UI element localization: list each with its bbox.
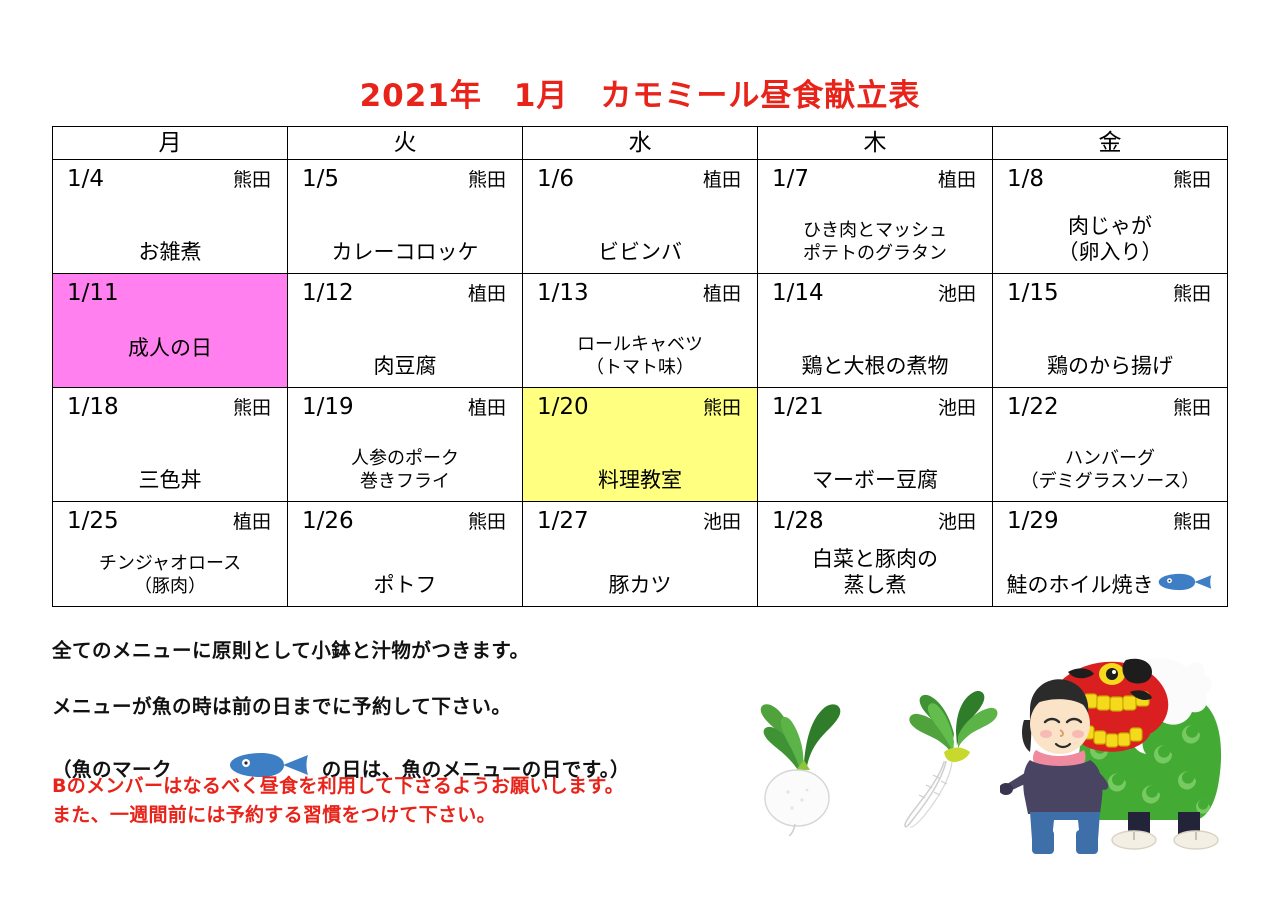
day-staff-name: 植田 [703,279,741,309]
note-red-line-2: また、一週間前には予約する習慣をつけて下さい。 [52,801,752,830]
daikon-radish-illustration [884,686,1004,836]
day-menu-text: 人参のポーク 巻きフライ [288,447,522,493]
day-date: 1/6 [537,164,574,194]
calendar-day-cell[interactable]: 1/15熊田鶏のから揚げ [993,274,1228,388]
calendar-day-cell[interactable]: 1/27池田豚カツ [523,502,758,607]
day-staff-name: 熊田 [1173,393,1211,423]
day-menu-text: 三色丼 [53,467,287,493]
menu-with-fish: 鮭のホイル焼き [1007,572,1214,598]
calendar-day-cell[interactable]: 1/20熊田料理教室 [523,388,758,502]
day-menu-text: ポトフ [288,572,522,598]
day-menu-text: ビビンバ [523,239,757,265]
calendar-day-cell[interactable]: 1/29熊田鮭のホイル焼き [993,502,1228,607]
day-menu-text: チンジャオロース （豚肉） [53,552,287,598]
weekday-header-mon: 月 [53,127,288,160]
day-staff-name: 熊田 [233,165,271,195]
day-staff-name: 植田 [233,507,271,537]
calendar-day-cell[interactable]: 1/28池田白菜と豚肉の 蒸し煮 [758,502,993,607]
shishimai-lion-dance-illustration [1000,634,1250,854]
day-cell-header: 1/14池田 [758,274,992,309]
day-cell-header: 1/12植田 [288,274,522,309]
calendar-week-row: 1/4熊田お雑煮1/5熊田カレーコロッケ1/6植田ビビンバ1/7植田ひき肉とマッ… [53,160,1228,274]
day-staff-name: 熊田 [233,393,271,423]
day-date: 1/21 [772,392,824,422]
calendar-day-cell[interactable]: 1/7植田ひき肉とマッシュ ポテトのグラタン [758,160,993,274]
page-title: 2021年 1月 カモミール昼食献立表 [0,70,1280,115]
day-date: 1/11 [67,278,119,308]
calendar-day-cell[interactable]: 1/11成人の日 [53,274,288,388]
day-date: 1/25 [67,506,119,536]
day-date: 1/27 [537,506,589,536]
weekday-header-thu: 木 [758,127,993,160]
note-line-1: 全てのメニューに原則として小鉢と汁物がつきます。 [52,636,752,666]
calendar-day-cell[interactable]: 1/14池田鶏と大根の煮物 [758,274,993,388]
day-menu-text: 肉豆腐 [288,353,522,379]
day-cell-header: 1/5熊田 [288,160,522,195]
day-cell-header: 1/15熊田 [993,274,1227,309]
day-date: 1/20 [537,392,589,422]
calendar-day-cell[interactable]: 1/6植田ビビンバ [523,160,758,274]
day-date: 1/15 [1007,278,1059,308]
day-menu-text: 鶏のから揚げ [993,353,1227,379]
day-staff-name: 植田 [938,165,976,195]
weekday-header-tue: 火 [288,127,523,160]
day-menu-text: 鮭のホイル焼き [993,572,1227,598]
note-red-line-1: Bのメンバーはなるべく昼食を利用して下さるようお願いします。 [52,772,752,801]
day-menu-text: マーボー豆腐 [758,467,992,493]
calendar-day-cell[interactable]: 1/5熊田カレーコロッケ [288,160,523,274]
calendar-day-cell[interactable]: 1/8熊田肉じゃが （卵入り） [993,160,1228,274]
day-menu-text: 鶏と大根の煮物 [758,353,992,379]
day-date: 1/28 [772,506,824,536]
day-cell-header: 1/11 [53,274,287,308]
calendar-day-cell[interactable]: 1/18熊田三色丼 [53,388,288,502]
blue-fish-icon [1156,572,1214,598]
day-cell-header: 1/28池田 [758,502,992,537]
day-date: 1/29 [1007,506,1059,536]
calendar-week-row: 1/25植田チンジャオロース （豚肉）1/26熊田ポトフ1/27池田豚カツ1/2… [53,502,1228,607]
day-date: 1/18 [67,392,119,422]
day-menu-text: 料理教室 [523,467,757,493]
day-cell-header: 1/18熊田 [53,388,287,423]
day-date: 1/7 [772,164,809,194]
day-cell-header: 1/21池田 [758,388,992,423]
day-cell-header: 1/25植田 [53,502,287,537]
day-date: 1/19 [302,392,354,422]
calendar-body: 1/4熊田お雑煮1/5熊田カレーコロッケ1/6植田ビビンバ1/7植田ひき肉とマッ… [53,160,1228,607]
calendar-day-cell[interactable]: 1/21池田マーボー豆腐 [758,388,993,502]
day-cell-header: 1/4熊田 [53,160,287,195]
day-date: 1/14 [772,278,824,308]
day-cell-header: 1/13植田 [523,274,757,309]
day-staff-name: 熊田 [1173,279,1211,309]
day-menu-text: 豚カツ [523,572,757,598]
day-staff-name: 植田 [703,165,741,195]
day-date: 1/12 [302,278,354,308]
day-menu-text: カレーコロッケ [288,239,522,265]
day-date: 1/4 [67,164,104,194]
turnip-illustration [752,686,862,836]
calendar-header-row: 月 火 水 木 金 [53,127,1228,160]
day-menu-label: 鮭のホイル焼き [1007,572,1154,598]
day-staff-name: 熊田 [468,165,506,195]
calendar-week-row: 1/18熊田三色丼1/19植田人参のポーク 巻きフライ1/20熊田料理教室1/2… [53,388,1228,502]
day-menu-text: ひき肉とマッシュ ポテトのグラタン [758,219,992,265]
calendar-day-cell[interactable]: 1/22熊田ハンバーグ （デミグラスソース） [993,388,1228,502]
day-menu-text: お雑煮 [53,239,287,265]
weekday-header-wed: 水 [523,127,758,160]
day-staff-name: 熊田 [1173,165,1211,195]
day-staff-name: 植田 [468,393,506,423]
calendar-day-cell[interactable]: 1/12植田肉豆腐 [288,274,523,388]
day-cell-header: 1/20熊田 [523,388,757,423]
day-date: 1/8 [1007,164,1044,194]
menu-calendar-table: 月 火 水 木 金 1/4熊田お雑煮1/5熊田カレーコロッケ1/6植田ビビンバ1… [52,126,1228,607]
day-cell-header: 1/6植田 [523,160,757,195]
day-cell-header: 1/22熊田 [993,388,1227,423]
day-cell-header: 1/8熊田 [993,160,1227,195]
day-staff-name: 植田 [468,279,506,309]
day-date: 1/5 [302,164,339,194]
day-staff-name: 熊田 [1173,507,1211,537]
note-line-2: メニューが魚の時は前の日までに予約して下さい。 [52,692,752,722]
calendar-day-cell[interactable]: 1/4熊田お雑煮 [53,160,288,274]
note-spacer [52,666,752,692]
day-staff-name: 池田 [938,279,976,309]
day-menu-text: 肉じゃが （卵入り） [993,213,1227,265]
calendar-day-cell[interactable]: 1/25植田チンジャオロース （豚肉） [53,502,288,607]
day-menu-text: 成人の日 [53,335,287,361]
day-staff-name: 池田 [938,507,976,537]
day-staff-name: 池田 [703,507,741,537]
calendar-day-cell[interactable]: 1/13植田ロールキャベツ （トマト味） [523,274,758,388]
day-cell-header: 1/26熊田 [288,502,522,537]
day-cell-header: 1/29熊田 [993,502,1227,537]
day-date: 1/26 [302,506,354,536]
calendar-day-cell[interactable]: 1/26熊田ポトフ [288,502,523,607]
day-cell-header: 1/19植田 [288,388,522,423]
day-menu-text: ハンバーグ （デミグラスソース） [993,447,1227,493]
calendar-day-cell[interactable]: 1/19植田人参のポーク 巻きフライ [288,388,523,502]
day-date: 1/13 [537,278,589,308]
day-menu-text: 白菜と豚肉の 蒸し煮 [758,546,992,598]
day-menu-text: ロールキャベツ （トマト味） [523,333,757,379]
day-staff-name: 熊田 [468,507,506,537]
notes-red-block: Bのメンバーはなるべく昼食を利用して下さるようお願いします。 また、一週間前には… [52,772,752,830]
weekday-header-fri: 金 [993,127,1228,160]
day-date: 1/22 [1007,392,1059,422]
day-cell-header: 1/7植田 [758,160,992,195]
day-cell-header: 1/27池田 [523,502,757,537]
day-staff-name: 池田 [938,393,976,423]
calendar-week-row: 1/11成人の日1/12植田肉豆腐1/13植田ロールキャベツ （トマト味）1/1… [53,274,1228,388]
day-staff-name: 熊田 [703,393,741,423]
